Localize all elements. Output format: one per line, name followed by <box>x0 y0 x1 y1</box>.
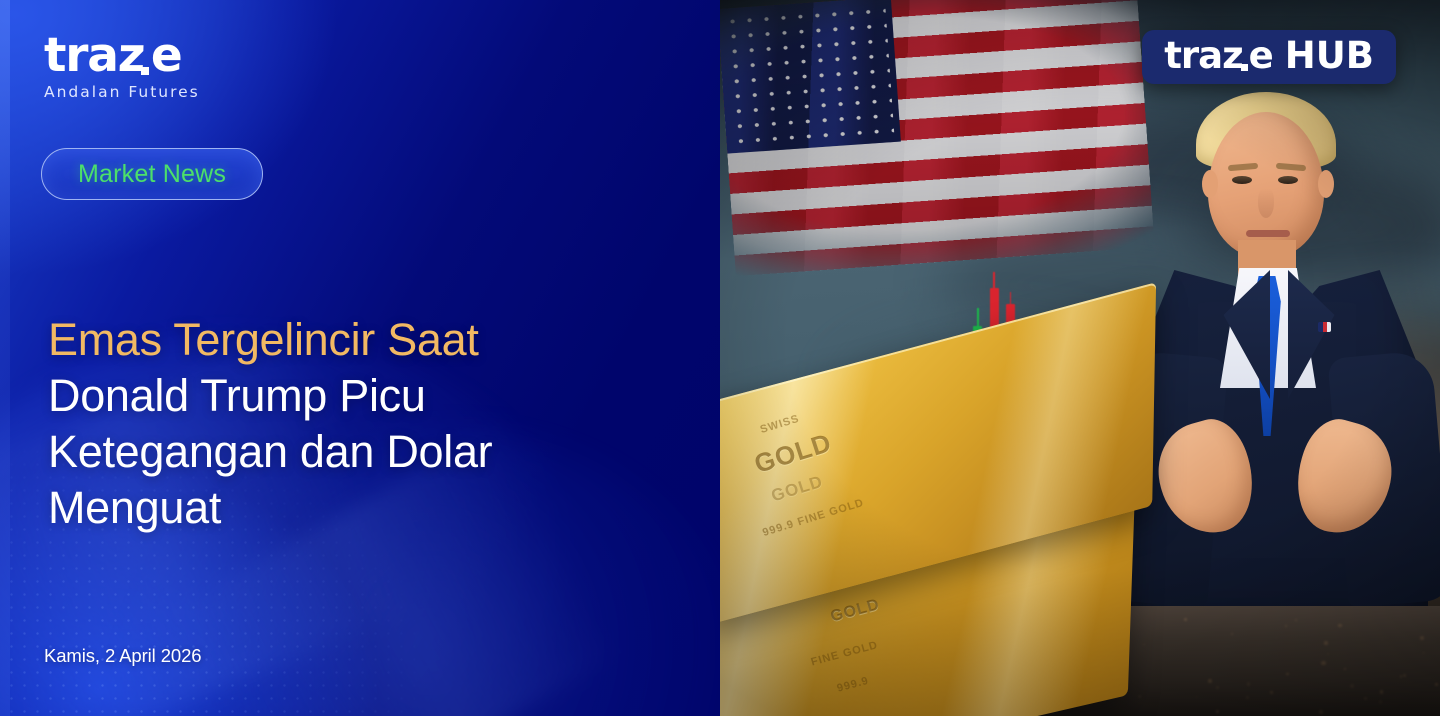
hub-badge-wordmark: tra z e <box>1164 37 1273 75</box>
ground-speck <box>1435 683 1438 686</box>
ground-speck <box>1382 639 1384 641</box>
gold-bar-fine-stamp-4: SWISS <box>758 413 800 436</box>
ground-speck <box>1380 690 1384 694</box>
gold-bars-icon: GOLD FINE GOLD 999.9 SWISS GOLD GOLD 999… <box>720 316 1172 716</box>
ground-speck <box>1295 619 1297 621</box>
left-edge-glow <box>0 0 10 716</box>
ground-speck <box>1379 700 1383 704</box>
ground-speck <box>1216 686 1219 689</box>
hub-badge-label: HUB <box>1285 37 1374 75</box>
ground-speck <box>1216 710 1219 713</box>
ground-speck <box>1350 684 1354 688</box>
hub-logo-dot-mark <box>1241 64 1248 71</box>
ground-speck <box>1422 652 1424 654</box>
brand-tagline: Andalan Futures <box>44 83 200 101</box>
headline-line-1: Emas Tergelincir Saat <box>48 312 648 368</box>
ground-speck <box>1324 641 1327 644</box>
headline-line-2: Donald Trump Picu <box>48 368 648 424</box>
ground-speck <box>1208 679 1211 682</box>
ground-speck <box>1247 682 1251 686</box>
flag-lapel-pin-icon <box>1318 322 1331 332</box>
ground-speck <box>1231 633 1233 635</box>
ground-speck <box>1403 674 1406 677</box>
ground-speck <box>1286 673 1288 675</box>
hero-image: GOLD FINE GOLD 999.9 SWISS GOLD GOLD 999… <box>720 0 1440 716</box>
ground-speck <box>1420 636 1424 640</box>
traze-hub-badge[interactable]: tra z e HUB <box>1142 30 1396 84</box>
page-title: Emas Tergelincir Saat Donald Trump Picu … <box>48 312 648 536</box>
hub-logo-text-z: z <box>1222 37 1243 75</box>
ground-speck <box>1196 696 1198 698</box>
ground-speck <box>1210 639 1211 640</box>
left-content-panel: tra z e Andalan Futures Market News Emas… <box>0 0 720 716</box>
us-flag-icon <box>720 0 1155 276</box>
logo-dot-mark <box>141 67 149 75</box>
logo-text-tra: tra <box>44 33 118 79</box>
ground-speck <box>1327 653 1329 655</box>
ground-speck <box>1246 696 1249 699</box>
ground-speck <box>1285 625 1287 627</box>
ground-speck <box>1344 668 1346 670</box>
news-banner: tra z e Andalan Futures Market News Emas… <box>0 0 1440 716</box>
category-badge-label: Market News <box>78 160 226 189</box>
headline-line-4: Menguat <box>48 480 648 536</box>
ground-speck <box>1338 624 1341 627</box>
gold-bar-fine-stamp-2: FINE GOLD <box>810 639 880 668</box>
ground-speck <box>1276 637 1277 638</box>
ground-speck <box>1364 697 1367 700</box>
gold-bar-fine-stamp-3: 999.9 <box>836 674 871 694</box>
ground-speck <box>1400 675 1402 677</box>
publish-date: Kamis, 2 April 2026 <box>44 645 202 667</box>
brand-logo-wordmark: tra z e <box>44 33 200 79</box>
brand-logo[interactable]: tra z e Andalan Futures <box>44 33 200 101</box>
ground-speck <box>1319 710 1323 714</box>
gold-bar-stamp-primary-echo: GOLD <box>769 471 826 506</box>
hub-logo-text-e: e <box>1249 37 1273 75</box>
hub-logo-text-tra: tra <box>1164 37 1222 75</box>
ground-speck <box>1184 618 1187 621</box>
logo-text-e: e <box>151 33 182 79</box>
headline-line-3: Ketegangan dan Dolar <box>48 424 648 480</box>
ground-speck <box>1321 661 1325 665</box>
ground-speck <box>1270 691 1273 694</box>
gold-bar-stamp-secondary: GOLD <box>828 596 881 626</box>
category-badge-market-news[interactable]: Market News <box>41 148 263 200</box>
